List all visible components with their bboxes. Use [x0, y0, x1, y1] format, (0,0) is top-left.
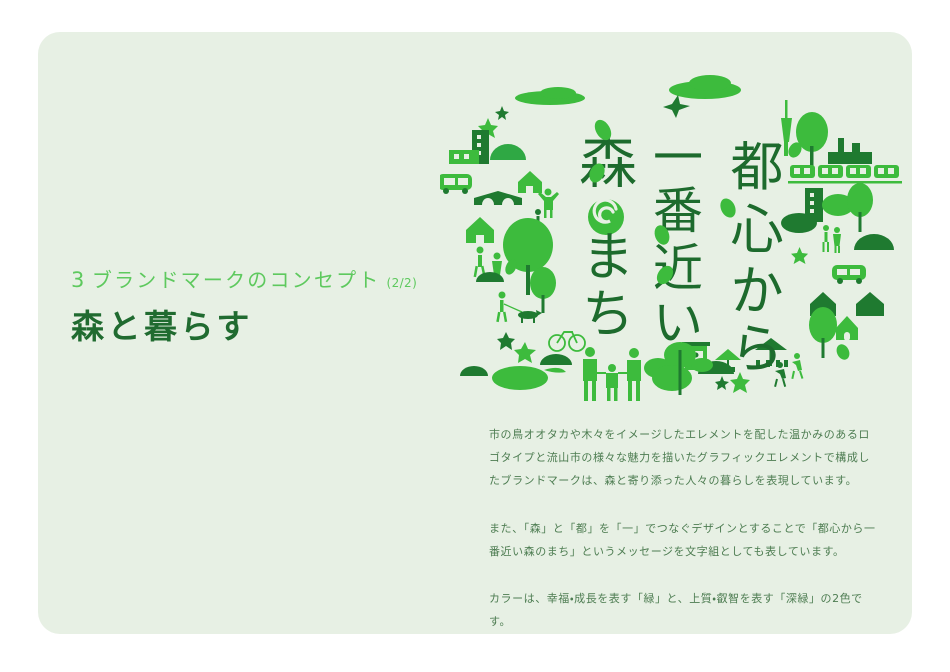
content-card: 都 心 か ら 一 番 近 い 森 ま ち: [38, 32, 912, 634]
tree-icon: [530, 267, 556, 313]
bus-icon: [440, 174, 472, 194]
bridge-icon: [474, 191, 522, 205]
logo-column-right: か: [731, 261, 784, 322]
star-icon: [514, 342, 536, 363]
leaf-icon: [492, 366, 566, 390]
dog-walker-icon: [496, 292, 522, 323]
body-paragraph-1: 市の鳥オオタカや木々をイメージしたエレメントを配した温かみのあるロゴタイプと流山…: [489, 424, 879, 493]
logo-column-right: ら: [731, 319, 784, 380]
cloud-icon: [669, 75, 741, 99]
body-paragraph-3: カラーは、幸福・成長を表す「緑」と、上質・叡智を表す「深緑」の2色です。: [489, 588, 879, 634]
logo-column-left: ち: [582, 285, 634, 345]
hill-icon: [490, 144, 526, 160]
logo-column-middle: 一: [653, 129, 703, 187]
cloud-icon: [515, 87, 585, 105]
building-icon: [449, 150, 479, 164]
star-icon: [497, 332, 515, 350]
brand-mark-logo: 都 心 か ら 一 番 近 い 森 ま ち: [440, 60, 912, 420]
person-icon: [823, 225, 830, 252]
logo-column-middle: い: [653, 294, 703, 352]
leaf-icon: [834, 342, 852, 362]
star-icon: [791, 247, 808, 264]
logo-column-right: 都: [731, 137, 784, 198]
tree-icon: [809, 307, 837, 358]
hill-icon: [460, 366, 488, 376]
train-icon: [788, 165, 902, 184]
tree-icon: [796, 112, 828, 168]
house-icon: [836, 316, 858, 341]
logo-column-right: 心: [731, 200, 784, 261]
logo-column-middle: 近: [653, 239, 703, 297]
body-paragraph-2: また、「森」と「都」を「一」でつなぐデザインとすることで「都心から一番近い森のま…: [489, 518, 879, 564]
star-icon: [715, 376, 729, 390]
page-title: 森と暮らす: [71, 307, 491, 347]
house-icon: [518, 171, 542, 194]
section-page-indicator: (2/2): [386, 276, 417, 290]
body-copy-block: 市の鳥オオタカや木々をイメージしたエレメントを配した温かみのあるロゴタイプと流山…: [489, 424, 879, 634]
slide-root: 都 心 か ら 一 番 近 い 森 ま ち: [0, 0, 950, 672]
hill-icon: [854, 234, 894, 250]
hill-icon: [540, 354, 572, 365]
bus-icon: [832, 265, 866, 284]
house-icon: [466, 217, 494, 244]
leaf-icon: [691, 358, 713, 372]
dog-icon: [518, 310, 542, 323]
factory-icon: [828, 138, 872, 164]
logo-column-left: ま: [582, 228, 634, 288]
house-icon: [856, 292, 884, 316]
section-number: 3: [71, 268, 85, 292]
bicycle-icon: [549, 332, 585, 351]
runner-icon: [791, 353, 803, 379]
star-icon: [495, 106, 509, 120]
hill-icon: [781, 213, 817, 233]
left-text-block: 3ブランドマークのコンセプト(2/2) 森と暮らす: [71, 270, 491, 347]
family-icon: [583, 347, 641, 401]
hawk-icon: [663, 95, 690, 118]
section-heading: 3ブランドマークのコンセプト(2/2): [71, 270, 491, 291]
person-icon: [833, 227, 841, 253]
tree-icon: [847, 183, 873, 232]
section-title: ブランドマークのコンセプト: [92, 268, 381, 292]
